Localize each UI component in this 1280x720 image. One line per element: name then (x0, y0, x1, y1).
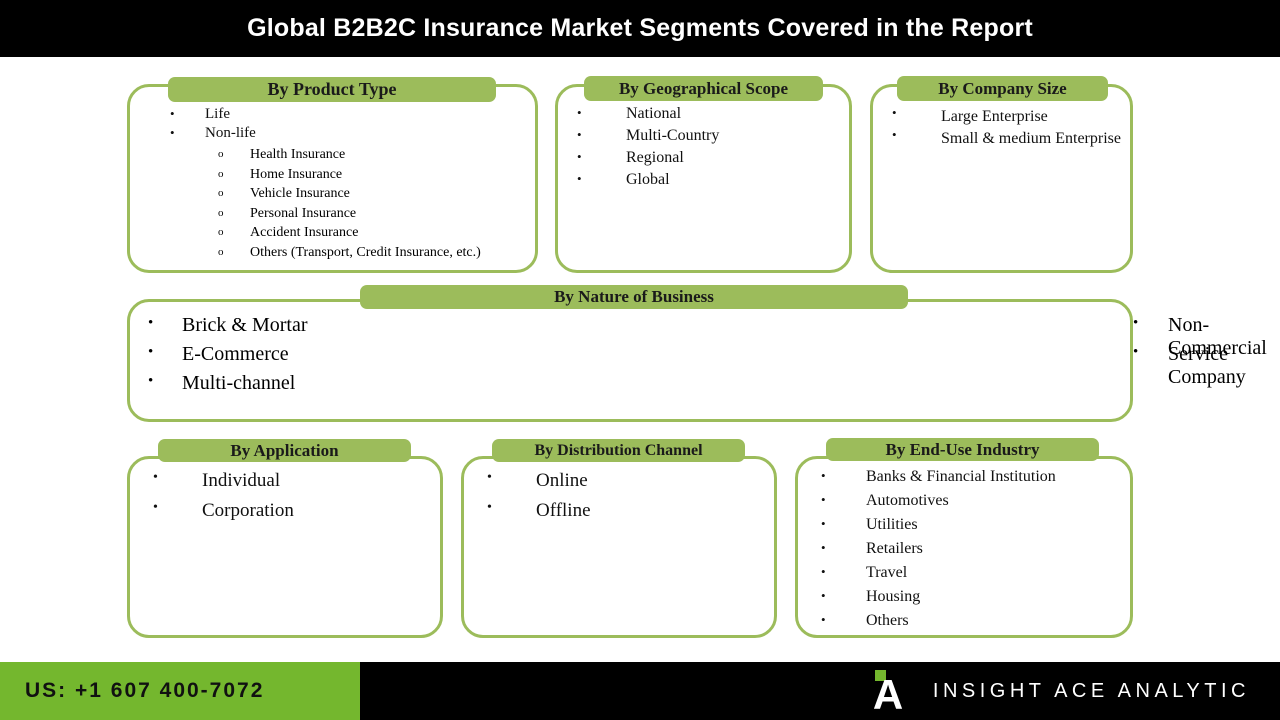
bullet-icon: • (821, 613, 826, 626)
list-item-label: Health Insurance (250, 147, 345, 163)
circle-bullet-icon: o (218, 207, 224, 219)
segment-header-geographical-scope: By Geographical Scope (584, 76, 823, 101)
list-item: • Global (574, 172, 839, 194)
brand-logo-icon: A (869, 668, 913, 714)
title-bar: Global B2B2C Insurance Market Segments C… (0, 0, 1280, 57)
bullet-icon: • (821, 541, 826, 554)
list-item-label: Housing (866, 589, 920, 605)
segment-header-nature-of-business: By Nature of Business (360, 285, 908, 309)
bullet-icon: • (153, 471, 158, 485)
circle-bullet-icon: o (218, 226, 224, 238)
list-item-label: Automotives (866, 493, 949, 509)
circle-bullet-icon: o (218, 187, 224, 199)
list-item: o Accident Insurance (150, 225, 540, 245)
list-item: • Large Enterprise (889, 106, 1124, 128)
list-item-label: National (626, 106, 681, 122)
nature-of-business-list-right: • Non-Commercial • Service Company (630, 314, 1130, 372)
bullet-icon: • (487, 501, 492, 515)
bullet-icon: • (170, 126, 175, 139)
list-item-label: Offline (536, 501, 591, 520)
application-list: • Individual • Corporation (146, 471, 431, 531)
bullet-icon: • (821, 469, 826, 482)
geographical-scope-list: • National • Multi-Country • Regional • … (574, 106, 839, 194)
circle-bullet-icon: o (218, 168, 224, 180)
list-item-label: Life (205, 107, 230, 122)
list-item-label: E-Commerce (182, 343, 289, 366)
list-item-label: Retailers (866, 541, 923, 557)
bullet-icon: • (892, 106, 897, 119)
product-type-sublist: o Health Insurance o Home Insurance o Ve… (150, 147, 540, 264)
list-item: • Online (480, 471, 765, 501)
contact-phone[interactable]: US: +1 607 400-7072 (25, 679, 264, 703)
list-item-label: Home Insurance (250, 167, 342, 183)
bullet-icon: • (148, 315, 153, 332)
list-item: • Banks & Financial Institution (814, 469, 1124, 493)
list-item: o Health Insurance (150, 147, 540, 167)
bullet-icon: • (821, 589, 826, 602)
list-item: o Vehicle Insurance (150, 186, 540, 206)
bullet-icon: • (1133, 315, 1138, 332)
list-item: o Others (Transport, Credit Insurance, e… (150, 245, 540, 265)
footer-bar: US: +1 607 400-7072 A INSIGHT ACE ANALYT… (0, 662, 1280, 720)
list-item-label: Banks & Financial Institution (866, 469, 1056, 485)
bullet-icon: • (148, 373, 153, 390)
list-item: • Travel (814, 565, 1124, 589)
list-item: • Automotives (814, 493, 1124, 517)
list-item-label: Others (Transport, Credit Insurance, etc… (250, 245, 481, 261)
page-title: Global B2B2C Insurance Market Segments C… (0, 0, 1280, 57)
logo-letter: A (873, 676, 901, 714)
list-item-label: Multi-channel (182, 372, 295, 395)
list-item: • National (574, 106, 839, 128)
bullet-icon: • (821, 493, 826, 506)
list-item: • Service Company (630, 343, 1130, 372)
segment-card-product-type: • Life • Non-life o Health Insurance o H… (127, 84, 538, 273)
footer-phone-panel: US: +1 607 400-7072 (0, 662, 360, 720)
list-item: • Small & medium Enterprise (889, 128, 1124, 150)
list-item-label: Corporation (202, 501, 294, 520)
list-item: • Utilities (814, 517, 1124, 541)
list-item: • Non-Commercial (630, 314, 1130, 343)
bullet-icon: • (577, 128, 582, 141)
bullet-icon: • (577, 150, 582, 163)
segment-card-end-use-industry: • Banks & Financial Institution • Automo… (795, 456, 1133, 638)
circle-bullet-icon: o (218, 246, 224, 258)
slide-canvas: Global B2B2C Insurance Market Segments C… (0, 0, 1280, 720)
bullet-icon: • (153, 501, 158, 515)
list-item: • Retailers (814, 541, 1124, 565)
list-item: • Others (814, 613, 1124, 637)
list-item-label: Travel (866, 565, 907, 581)
list-item-label: Accident Insurance (250, 225, 358, 241)
list-item-label: Small & medium Enterprise (941, 128, 1121, 150)
list-item-label: Personal Insurance (250, 206, 356, 222)
list-item-label: Large Enterprise (941, 106, 1048, 128)
segment-card-nature-of-business: • Brick & Mortar • E-Commerce • Multi-ch… (127, 299, 1133, 422)
brand-lockup: A INSIGHT ACE ANALYTIC (869, 662, 1250, 720)
list-item-label: Global (626, 172, 670, 188)
list-item: o Home Insurance (150, 167, 540, 187)
distribution-channel-list: • Online • Offline (480, 471, 765, 531)
segment-header-end-use-industry: By End-Use Industry (826, 438, 1099, 461)
segment-header-company-size: By Company Size (897, 76, 1108, 101)
list-item: • Corporation (146, 501, 431, 531)
segment-header-product-type: By Product Type (168, 77, 496, 102)
list-item-label: Others (866, 613, 909, 629)
product-type-list: • Life • Non-life (150, 107, 530, 145)
list-item: o Personal Insurance (150, 206, 540, 226)
list-item: • Multi-Country (574, 128, 839, 150)
list-item-label: Utilities (866, 517, 918, 533)
list-item-label: Multi-Country (626, 128, 719, 144)
list-item-label: Individual (202, 471, 280, 490)
bullet-icon: • (148, 344, 153, 361)
bullet-icon: • (170, 107, 175, 120)
segment-header-application: By Application (158, 439, 411, 462)
brand-name: INSIGHT ACE ANALYTIC (933, 680, 1250, 703)
bullet-icon: • (577, 172, 582, 185)
list-item: • E-Commerce (130, 343, 630, 372)
nature-column-right: • Non-Commercial • Service Company (630, 314, 1130, 401)
list-item-label: Regional (626, 150, 684, 166)
bullet-icon: • (1133, 344, 1138, 361)
list-item: • Regional (574, 150, 839, 172)
list-item-label: Vehicle Insurance (250, 186, 350, 202)
segment-card-distribution-channel: • Online • Offline (461, 456, 777, 638)
list-item-label: Brick & Mortar (182, 314, 308, 337)
segment-card-application: • Individual • Corporation (127, 456, 443, 638)
list-item: • Individual (146, 471, 431, 501)
list-item: • Non-life (150, 126, 530, 145)
bullet-icon: • (821, 565, 826, 578)
segment-card-company-size: • Large Enterprise • Small & medium Ente… (870, 84, 1133, 273)
nature-of-business-list-left: • Brick & Mortar • E-Commerce • Multi-ch… (130, 314, 630, 401)
nature-of-business-columns: • Brick & Mortar • E-Commerce • Multi-ch… (130, 314, 1130, 401)
segment-card-geographical-scope: • National • Multi-Country • Regional • … (555, 84, 852, 273)
end-use-industry-list: • Banks & Financial Institution • Automo… (814, 469, 1124, 637)
list-item: • Life (150, 107, 530, 126)
bullet-icon: • (487, 471, 492, 485)
list-item: • Brick & Mortar (130, 314, 630, 343)
bullet-icon: • (821, 517, 826, 530)
list-item-label: Service Company (1168, 343, 1246, 389)
list-item: • Housing (814, 589, 1124, 613)
company-size-list: • Large Enterprise • Small & medium Ente… (889, 106, 1124, 150)
bullet-icon: • (892, 128, 897, 141)
list-item: • Multi-channel (130, 372, 630, 401)
segment-header-distribution-channel: By Distribution Channel (492, 439, 745, 462)
list-item-label: Online (536, 471, 588, 490)
bullet-icon: • (577, 106, 582, 119)
circle-bullet-icon: o (218, 148, 224, 160)
list-item: • Offline (480, 501, 765, 531)
list-item-label: Non-life (205, 126, 256, 141)
nature-column-left: • Brick & Mortar • E-Commerce • Multi-ch… (130, 314, 630, 401)
